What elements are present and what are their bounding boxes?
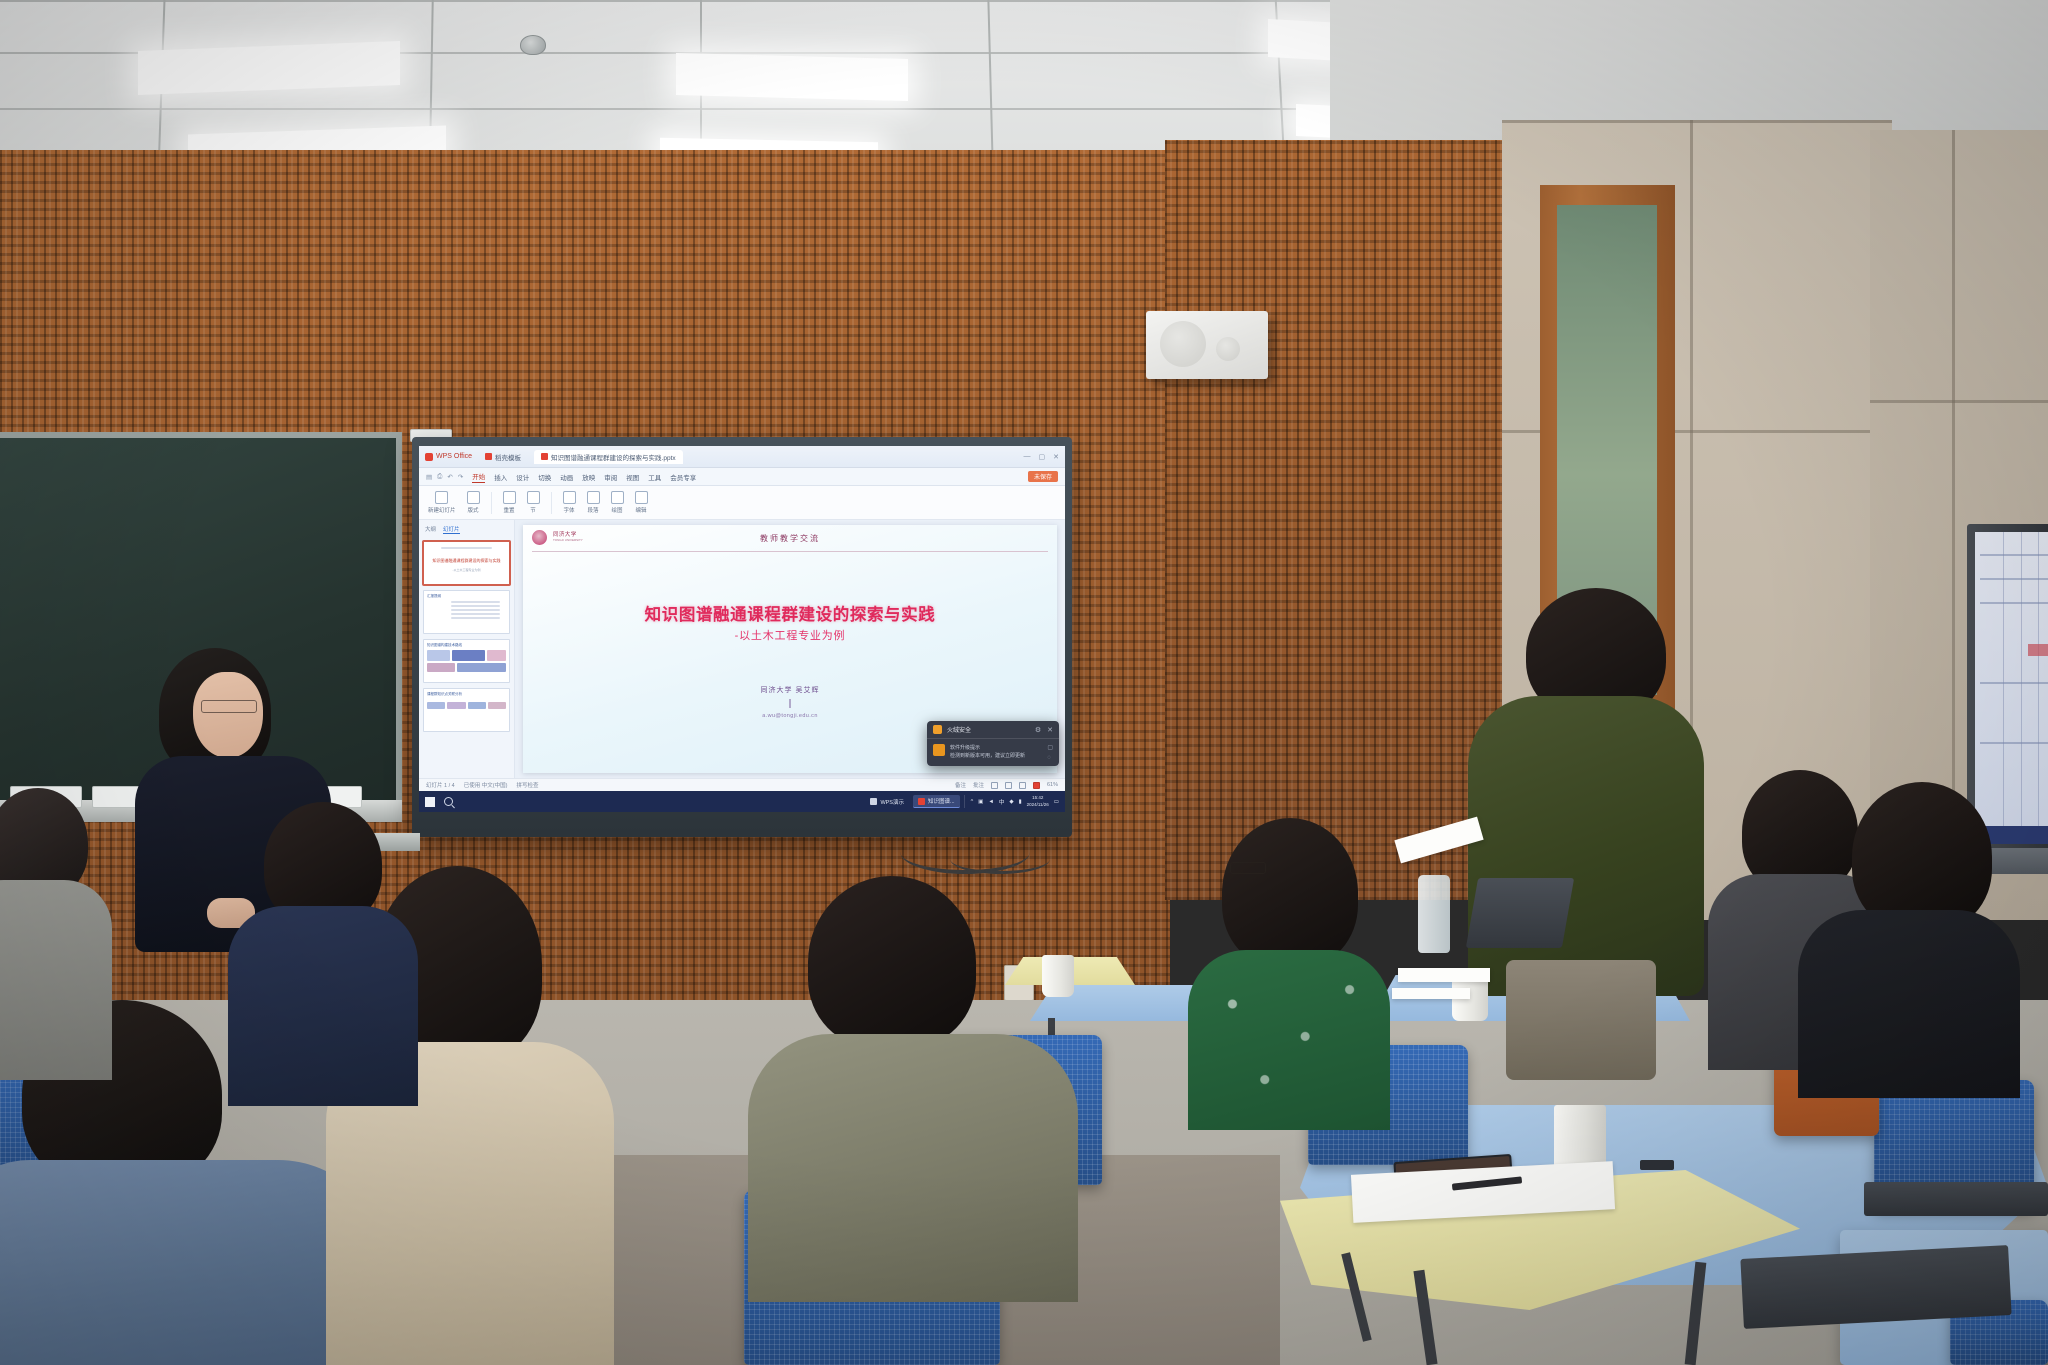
network-icon[interactable]: ▣: [978, 799, 983, 805]
water-bottle: [1418, 875, 1450, 953]
view-normal-icon[interactable]: [991, 782, 998, 789]
toast-header: 火绒安全 ⚙ ✕: [927, 721, 1059, 739]
section-icon: [527, 491, 540, 504]
ribbon-font[interactable]: 字体: [563, 491, 576, 514]
tongji-logo-icon: [532, 530, 547, 545]
laptop-right-table: [1864, 1182, 2048, 1216]
ribbon-label: 编辑: [636, 506, 647, 514]
projection-screen: WPS Office 稻壳模板 知识图谱融通课程群建设的探索与实践.pptx —…: [419, 446, 1065, 812]
ribbon-label: 绘图: [612, 506, 623, 514]
attendee-black-right-jacket: [1798, 910, 2020, 1098]
ribbon-label: 节: [530, 506, 536, 514]
status-language: 已使用 中文(中国): [464, 781, 508, 789]
view-slideshow-icon[interactable]: [1033, 782, 1040, 789]
taskbar-clock[interactable]: 15:42 2024/11/26: [1027, 795, 1049, 808]
toast-title: 火绒安全: [947, 725, 971, 734]
layout-icon: [467, 491, 480, 504]
wps-tab-template[interactable]: 稻壳模板: [478, 450, 528, 464]
taskbar-app-label: WPS演示: [880, 798, 904, 806]
status-right-group[interactable]: 备注 批注 61%: [955, 781, 1058, 789]
slide-email: a.wu@tongji.edu.cn: [523, 713, 1057, 719]
display-cable: [950, 844, 1050, 874]
attendee-grey-top: [0, 880, 112, 1080]
ribbon-section[interactable]: 节: [527, 491, 540, 514]
presenter-face: [193, 672, 263, 758]
projection-display-bezel: WPS Office 稻壳模板 知识图谱融通课程群建设的探索与实践.pptx —…: [412, 437, 1072, 837]
wall-speaker: [1146, 311, 1268, 379]
ribbon-label: 新建幻灯片: [428, 506, 456, 514]
secondary-display-highlight: [2028, 644, 2048, 656]
menu-item-review[interactable]: 审阅: [604, 472, 617, 482]
drawing-icon: [611, 491, 624, 504]
laptop-behind-standing: [1466, 878, 1574, 948]
save-status-button[interactable]: 未保存: [1028, 471, 1058, 482]
gear-icon[interactable]: ⚙: [1035, 726, 1041, 734]
thumb-heading: 汇报提纲: [427, 594, 506, 599]
slide-subtitle: -以土木工程专业为例: [523, 627, 1057, 643]
undo-icon[interactable]: ↶: [447, 473, 452, 481]
menu-item-animation[interactable]: 动画: [560, 472, 573, 482]
ime-icon[interactable]: 中: [999, 798, 1005, 806]
menu-item-view[interactable]: 视图: [626, 472, 639, 482]
print-icon[interactable]: ⎙: [437, 473, 442, 481]
editing-icon: [635, 491, 648, 504]
toast-avatar: [933, 744, 945, 756]
windows-taskbar[interactable]: WPS演示 知识图谱... ^ ▣ ◄ 中 ◆ ▮: [419, 791, 1065, 812]
wps-menu-bar: ▤ ⎙ ↶ ↷ 开始 插入 设计 切换 动画 放映 审阅 视图 工具 会员专享 …: [419, 468, 1065, 486]
slide-divider: [532, 551, 1048, 552]
close-icon[interactable]: ✕: [1053, 453, 1059, 461]
paper-cup-left: [1042, 955, 1074, 997]
thumbnail-slide-3[interactable]: 3 知识图谱构建技术路线: [423, 639, 510, 683]
wps-ribbon: 新建幻灯片 版式 重置 节: [419, 486, 1065, 520]
papers-on-right-table: [1398, 968, 1490, 982]
quick-access-toolbar[interactable]: ▤ ⎙ ↶ ↷: [426, 473, 463, 481]
usb-drive: [1640, 1160, 1674, 1170]
ribbon-drawing[interactable]: 绘图: [611, 491, 624, 514]
wps-tab-label: 稻壳模板: [495, 452, 521, 462]
institution-name-en: TONGJI UNIVERSITY: [553, 539, 583, 543]
toast-expand-icon[interactable]: ▢: [1047, 744, 1053, 751]
window-controls[interactable]: — ▢ ✕: [1024, 453, 1060, 461]
wps-tab-bar: WPS Office 稻壳模板 知识图谱融通课程群建设的探索与实践.pptx —…: [419, 446, 1065, 468]
windows-start-icon[interactable]: [425, 797, 435, 807]
person-attendee-olive-shirt: [748, 876, 1078, 1296]
search-icon[interactable]: [444, 797, 453, 806]
attendee-olive-shirt-body: [748, 1034, 1078, 1302]
ribbon-editing[interactable]: 编辑: [635, 491, 648, 514]
view-sorter-icon[interactable]: [1005, 782, 1012, 789]
presenter-glasses-icon: [201, 700, 257, 713]
smoke-detector-icon: [520, 35, 546, 55]
institution-name: 同济大学 TONGJI UNIVERSITY: [553, 532, 583, 543]
toast-dismiss-icon[interactable]: ◌: [1047, 755, 1053, 761]
minimize-icon[interactable]: —: [1024, 453, 1031, 461]
shield-icon[interactable]: ◆: [1009, 799, 1013, 805]
wps-taskbar-icon: [870, 798, 877, 805]
reset-icon: [503, 491, 516, 504]
ceiling-light-panel: [676, 53, 908, 101]
thumb-heading: 课程群知识点关联分析: [427, 692, 506, 697]
wps-brand: WPS Office: [425, 453, 472, 461]
notification-icon[interactable]: ▭: [1054, 799, 1059, 805]
wps-logo-icon: [425, 453, 433, 461]
classroom-scene: WPS Office 稻壳模板 知识图谱融通课程群建设的探索与实践.pptx —…: [0, 0, 2048, 1365]
speaker-tweeter-icon: [1216, 337, 1240, 361]
slide-kicker: 教师教学交流: [760, 533, 820, 544]
pptx-icon: [541, 453, 548, 460]
taskbar-app-label: 知识图谱...: [928, 797, 955, 805]
menu-item-insert[interactable]: 插入: [494, 472, 507, 482]
thumbnail-tabs[interactable]: 大纲 幻灯片: [423, 525, 510, 536]
wps-status-bar: 幻灯片 1 / 4 已使用 中文(中国) 拼写检查 备注 批注 61%: [419, 778, 1065, 791]
ribbon-reset[interactable]: 重置: [503, 491, 516, 514]
wps-app-name: WPS Office: [436, 453, 472, 460]
tab-outline[interactable]: 大纲: [425, 525, 436, 534]
wps-office-window: WPS Office 稻壳模板 知识图谱融通课程群建设的探索与实践.pptx —…: [419, 446, 1065, 812]
redo-icon[interactable]: ↷: [458, 473, 463, 481]
attendee-green-hair: [1222, 818, 1358, 968]
menu-item-start[interactable]: 开始: [472, 471, 485, 483]
standing-attendee-trousers: [1506, 960, 1656, 1080]
text-cursor: [790, 699, 791, 708]
notification-toast[interactable]: 火绒安全 ⚙ ✕ 软件升级提示 检测到新版本可用，建议立即更新: [927, 721, 1059, 766]
clock-time: 15:42: [1032, 795, 1043, 800]
menu-item-slideshow[interactable]: 放映: [582, 472, 595, 482]
chevron-up-icon[interactable]: ^: [971, 799, 974, 805]
toast-message-line2: 检测到新版本可用，建议立即更新: [950, 753, 1025, 759]
speaker-woofer-icon: [1160, 321, 1206, 367]
attendee-green-print-top: [1188, 950, 1390, 1130]
papers-mid-table: [1392, 988, 1470, 999]
attendee-olive-hair: [808, 876, 976, 1048]
status-spellcheck: 拼写检查: [516, 781, 538, 789]
ribbon-paragraph[interactable]: 段落: [587, 491, 600, 514]
ribbon-label: 版式: [468, 506, 479, 514]
paragraph-icon: [587, 491, 600, 504]
battery-icon[interactable]: ▮: [1019, 799, 1022, 805]
thumb-subtitle: -以土木工程专业为例: [427, 568, 506, 572]
save-icon[interactable]: ▤: [426, 473, 432, 481]
wps-tab-label: 知识图谱融通课程群建设的探索与实践.pptx: [551, 452, 676, 462]
taskbar-apps[interactable]: WPS演示 知识图谱... ^ ▣ ◄ 中 ◆ ▮: [865, 795, 1059, 808]
new-slide-icon: [435, 491, 448, 504]
menu-item-design[interactable]: 设计: [516, 472, 529, 482]
volume-icon[interactable]: ◄: [988, 799, 993, 805]
thumbnail-slide-1[interactable]: 1 知识图谱融通课程群建设的探索与实践 -以土木工程专业为例: [423, 541, 510, 585]
close-icon[interactable]: ✕: [1047, 726, 1053, 734]
wps-tab-pptx[interactable]: 知识图谱融通课程群建设的探索与实践.pptx: [534, 450, 683, 464]
thumbnail-slide-2[interactable]: 2 汇报提纲: [423, 590, 510, 634]
menu-item-member[interactable]: 会员专享: [670, 472, 696, 482]
thumb-heading: 知识图谱构建技术路线: [427, 643, 506, 648]
status-notes[interactable]: 备注: [955, 781, 966, 789]
menu-item-transition[interactable]: 切换: [538, 472, 551, 482]
taskbar-app-wps[interactable]: WPS演示: [865, 796, 909, 808]
slide-author: 同济大学 吴艾辉: [523, 685, 1057, 695]
tab-slides[interactable]: 幻灯片: [443, 525, 460, 534]
status-slide-index: 幻灯片 1 / 4: [426, 781, 455, 789]
thumb-title: 知识图谱融通课程群建设的探索与实践: [427, 558, 506, 564]
ribbon-label: 字体: [564, 506, 575, 514]
person-attendee-navy: [228, 802, 418, 1102]
pptx-taskbar-icon: [918, 798, 925, 805]
menu-item-tools[interactable]: 工具: [648, 472, 661, 482]
status-comments[interactable]: 批注: [973, 781, 984, 789]
ribbon-new-slide[interactable]: 新建幻灯片: [428, 491, 456, 514]
person-attendee-green-print: [1196, 818, 1386, 1118]
zoom-level[interactable]: 61%: [1047, 782, 1058, 788]
clock-date: 2024/11/26: [1027, 802, 1049, 807]
view-reading-icon[interactable]: [1019, 782, 1026, 789]
attendee-green-glasses-icon: [1230, 862, 1266, 874]
standing-attendee-coat: [1468, 696, 1704, 996]
toast-message-line1: 软件升级提示: [950, 745, 980, 751]
maximize-icon[interactable]: ▢: [1039, 453, 1046, 461]
toast-body: 软件升级提示 检测到新版本可用，建议立即更新 ▢ ◌: [927, 739, 1059, 766]
slide-thumbnail-panel[interactable]: 大纲 幻灯片 1 知识图谱融通课程群建设的探索与实践 -以土木工程专业为例 2 …: [419, 520, 515, 778]
laptop-foreground-right: [1740, 1245, 2011, 1329]
template-icon: [485, 453, 492, 460]
slide-title: 知识图谱融通课程群建设的探索与实践: [523, 601, 1057, 625]
ribbon-label: 段落: [588, 506, 599, 514]
ribbon-label: 重置: [504, 506, 515, 514]
toast-app-icon: [933, 725, 942, 734]
attendee-navy-coat: [228, 906, 418, 1106]
person-attendee-grey: [0, 788, 100, 1068]
font-icon: [563, 491, 576, 504]
ribbon-layout[interactable]: 版式: [467, 491, 480, 514]
system-tray[interactable]: ^ ▣ ◄ 中 ◆ ▮ 15:42 2024/11/26 ▭: [964, 795, 1059, 808]
person-attendee-black-right: [1798, 782, 2013, 1082]
taskbar-app-active[interactable]: 知识图谱...: [913, 795, 960, 808]
thumbnail-slide-4[interactable]: 4 课程群知识点关联分析: [423, 688, 510, 732]
